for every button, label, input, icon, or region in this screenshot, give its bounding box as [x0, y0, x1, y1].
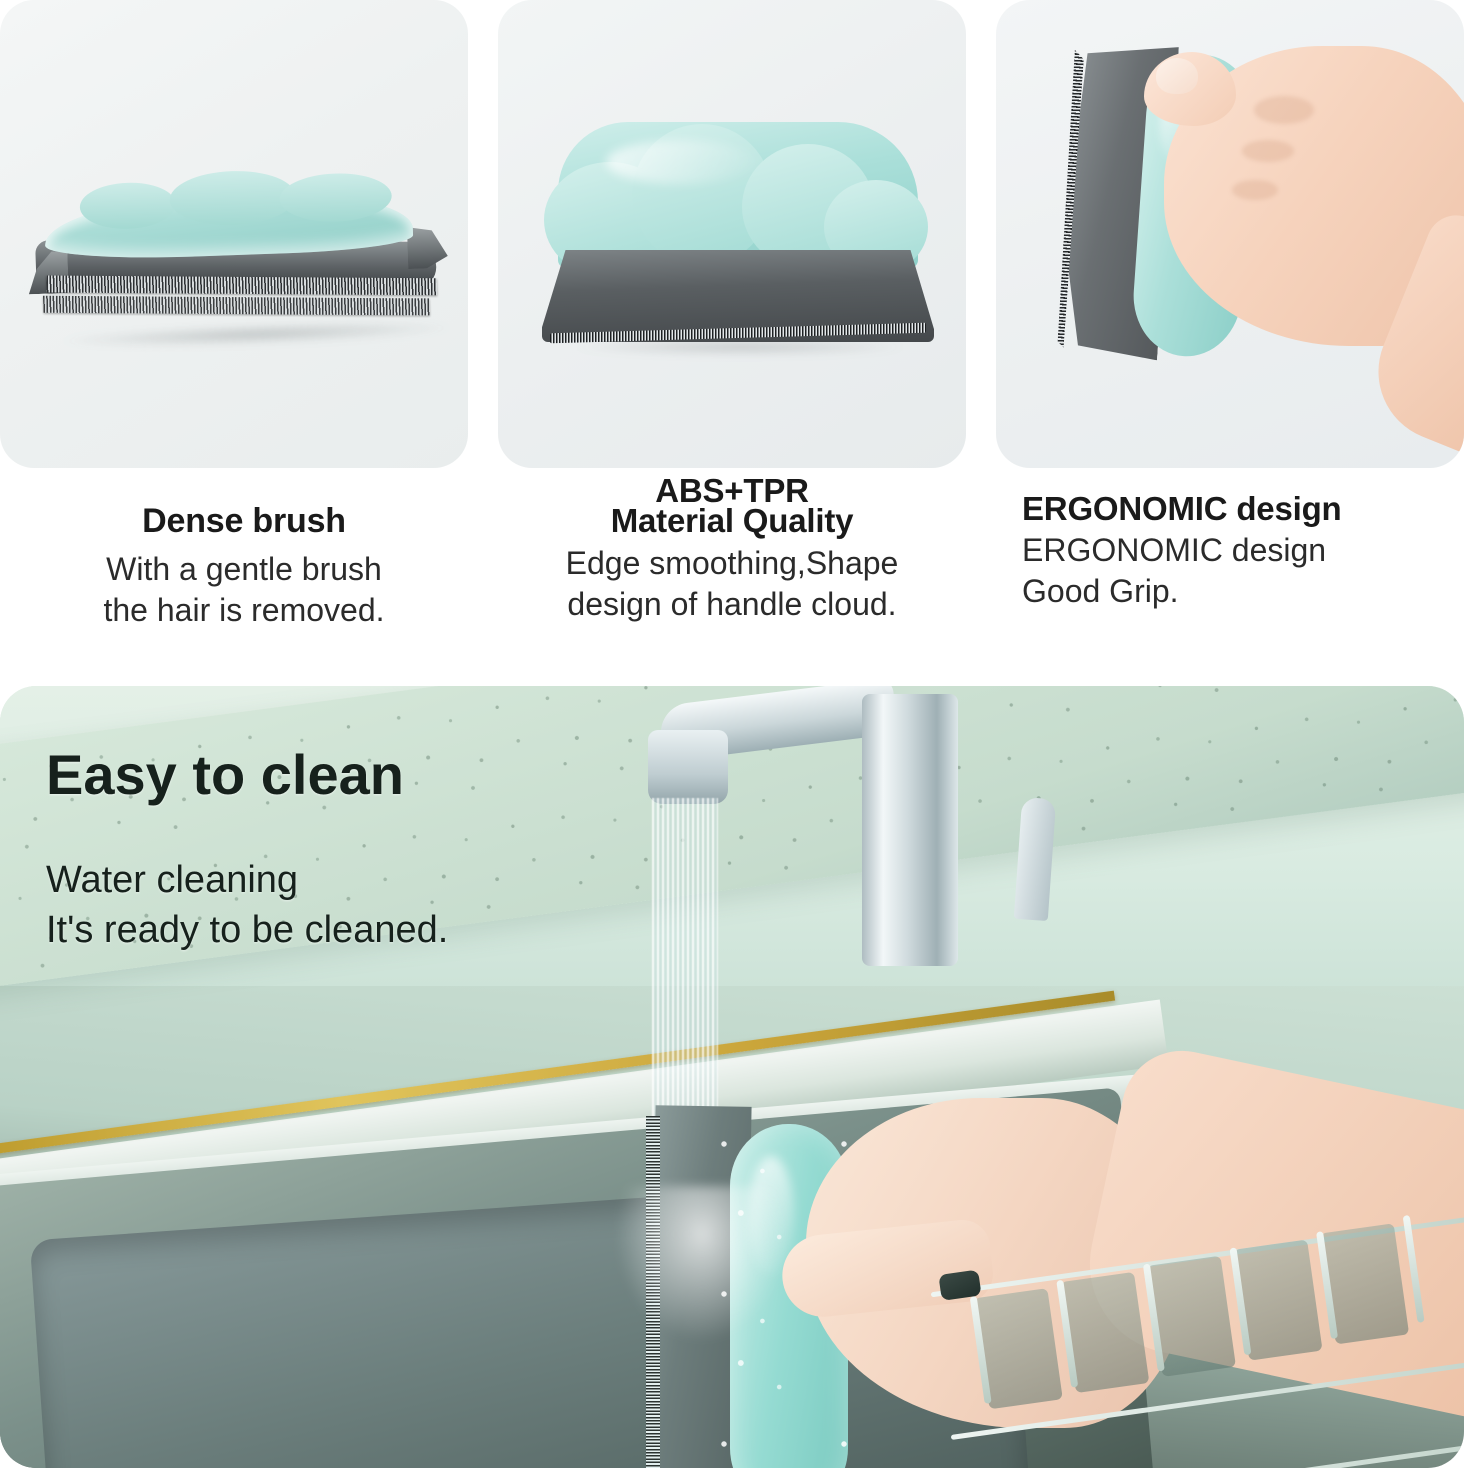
- feature-description: ERGONOMIC design Good Grip.: [1022, 530, 1450, 612]
- handle-highlight: [606, 140, 756, 184]
- knuckle-shading: [1232, 180, 1278, 200]
- faucet-body: [862, 694, 958, 966]
- feature-description: With a gentle brush the hair is removed.: [14, 549, 474, 631]
- knuckle-shading: [1254, 96, 1314, 124]
- knuckle-shading: [1242, 140, 1294, 162]
- product-image-hand-grip: [996, 0, 1464, 468]
- bristle-row: [43, 296, 430, 316]
- feature-panel-ergonomic-design: [996, 0, 1464, 468]
- hero-text-block: Easy to clean Water cleaning It's ready …: [46, 746, 686, 955]
- cloud-brush-illustration: [536, 122, 936, 352]
- caption-dense-brush: Dense brush With a gentle brush the hair…: [0, 468, 488, 664]
- thumbnail: [1156, 58, 1198, 94]
- bristle-row: [46, 276, 437, 296]
- caption-ergonomic-design: ERGONOMIC design ERGONOMIC design Good G…: [976, 468, 1464, 664]
- flat-brush-illustration: [23, 178, 452, 353]
- drop-shadow: [56, 317, 456, 351]
- product-image-flat-brush: [0, 0, 468, 468]
- feature-title: ABS+TPR Material Quality: [502, 476, 962, 537]
- hero-title: Easy to clean: [46, 746, 686, 803]
- rack-fin: [1403, 1215, 1425, 1323]
- rack-wire: [962, 1441, 1464, 1468]
- feature-panel-material-quality: [498, 0, 966, 468]
- feature-title: ERGONOMIC design: [1022, 492, 1450, 526]
- caption-row: Dense brush With a gentle brush the hair…: [0, 468, 1464, 664]
- feature-description: Edge smoothing,Shape design of handle cl…: [502, 543, 962, 625]
- hero-subtitle: Water cleaning It's ready to be cleaned.: [46, 855, 686, 955]
- feature-title: Dense brush: [14, 504, 474, 539]
- hero-lifestyle-image: Easy to clean Water cleaning It's ready …: [0, 686, 1464, 1468]
- product-image-upright-cloud-brush: [498, 0, 966, 468]
- caption-material-quality: ABS+TPR Material Quality Edge smoothing,…: [488, 468, 976, 664]
- water-splash: [612, 1186, 792, 1346]
- feature-panel-row: [0, 0, 1464, 468]
- feature-panel-dense-brush: [0, 0, 468, 468]
